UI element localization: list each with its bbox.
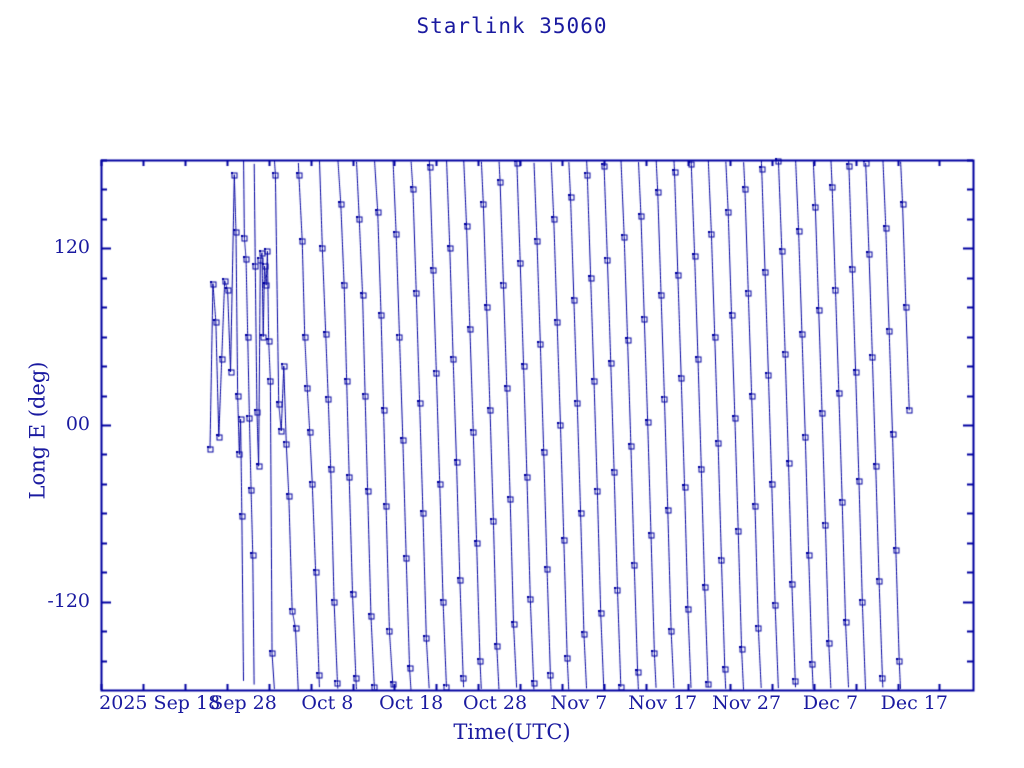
chart-figure: Starlink 35060 Time(UTC) Long E (deg) 20… — [0, 0, 1024, 768]
plot-canvas — [0, 0, 1024, 768]
